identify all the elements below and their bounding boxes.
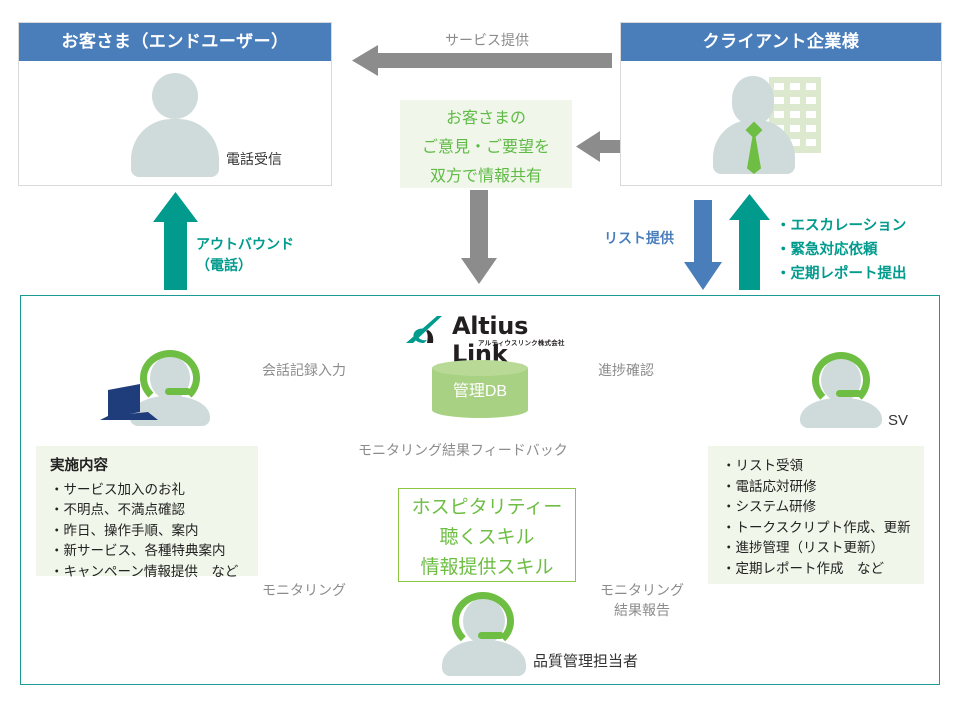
altius-logo-subtitle: アルティウスリンク株式会社: [478, 337, 565, 347]
conversation-log-label: 会話記録入力: [262, 360, 346, 380]
sv-task-item: ・進捗管理（リスト更新）: [722, 538, 910, 559]
escalation-list: ・エスカレーション ・緊急対応依頼 ・定期レポート提出: [776, 214, 907, 286]
laptop-icon: [96, 382, 176, 426]
sv-task-item: ・トークスクリプト作成、更新: [722, 518, 910, 539]
shared-info-line3: 双方で情報共有: [400, 162, 572, 191]
management-db-label: 管理DB: [432, 377, 528, 401]
diagram-canvas: お客さま（エンドユーザー） 電話受信 クライアント企業様: [0, 0, 960, 709]
monitoring-report-line1: モニタリング: [600, 580, 684, 600]
outbound-label-line2: （電話）: [196, 255, 294, 276]
end-user-box: お客さま（エンドユーザー） 電話受信: [18, 22, 332, 186]
qa-headset-mic-icon: [478, 632, 504, 639]
end-user-caption: 電話受信: [226, 149, 282, 169]
sv-task-item: ・定期レポート作成 など: [722, 559, 910, 580]
client-company-header: クライアント企業様: [621, 23, 941, 61]
qa-caption: 品質管理担当者: [533, 650, 638, 671]
sv-tasks-box: ・リスト受領 ・電話応対研修 ・システム研修 ・トークスクリプト作成、更新 ・進…: [708, 446, 924, 584]
skills-box: ホスピタリティー 聴くスキル 情報提供スキル: [398, 488, 576, 582]
qa-headset-icon: [452, 592, 514, 650]
end-user-person-icon: [131, 73, 219, 173]
escalation-item: ・エスカレーション: [776, 214, 907, 238]
monitoring-report-label: モニタリング 結果報告: [600, 580, 684, 620]
implementation-item: ・新サービス、各種特典案内: [50, 541, 244, 562]
implementation-item: ・キャンペーン情報提供 など: [50, 562, 244, 583]
implementation-item: ・不明点、不満点確認: [50, 500, 244, 521]
arrow-list-supply-down: [684, 200, 722, 290]
sv-headset-mic-icon: [836, 390, 862, 397]
sv-caption: SV: [888, 412, 908, 429]
implementation-content-box: 実施内容 ・サービス加入のお礼 ・不明点、不満点確認 ・昨日、操作手順、案内 ・…: [36, 446, 258, 576]
client-person-icon: [713, 76, 795, 172]
monitoring-feedback-label: モニタリング結果フィードバック: [358, 440, 568, 460]
sv-task-item: ・リスト受領: [722, 456, 910, 477]
service-provision-label: サービス提供: [432, 30, 542, 50]
altius-logo-mark: [404, 314, 450, 346]
monitoring-label: モニタリング: [262, 580, 346, 600]
arrow-client-to-shared: [576, 131, 620, 162]
client-company-box: クライアント企業様: [620, 22, 942, 186]
outbound-label: アウトバウンド （電話）: [196, 234, 294, 276]
shared-info-line2: ご意見・ご要望を: [400, 133, 572, 162]
monitoring-report-line2: 結果報告: [600, 600, 684, 620]
list-supply-label: リスト提供: [604, 228, 674, 248]
shared-info-box: お客さまの ご意見・ご要望を 双方で情報共有: [400, 100, 572, 188]
outbound-label-line1: アウトバウンド: [196, 234, 294, 255]
shared-info-line1: お客さまの: [400, 104, 572, 133]
implementation-title: 実施内容: [50, 456, 244, 477]
sv-headset-icon: [812, 352, 870, 408]
skills-line1: ホスピタリティー: [399, 493, 575, 523]
end-user-header: お客さま（エンドユーザー）: [19, 23, 331, 61]
client-company-body: [621, 61, 941, 185]
escalation-item: ・定期レポート提出: [776, 262, 907, 286]
escalation-item: ・緊急対応依頼: [776, 238, 907, 262]
arrow-escalation-up: [729, 194, 770, 290]
sv-task-item: ・システム研修: [722, 497, 910, 518]
skills-line3: 情報提供スキル: [399, 553, 575, 583]
end-user-body: 電話受信: [19, 61, 331, 185]
management-db-icon: 管理DB: [432, 360, 528, 418]
implementation-item: ・サービス加入のお礼: [50, 480, 244, 501]
skills-line2: 聴くスキル: [399, 523, 575, 553]
arrow-shared-down: [461, 190, 497, 284]
altius-link-logo: Altius Link アルティウスリンク株式会社: [404, 312, 584, 348]
sv-task-item: ・電話応対研修: [722, 477, 910, 498]
implementation-item: ・昨日、操作手順、案内: [50, 521, 244, 542]
progress-check-label: 進捗確認: [598, 360, 654, 380]
arrow-outbound-up: [153, 192, 198, 290]
